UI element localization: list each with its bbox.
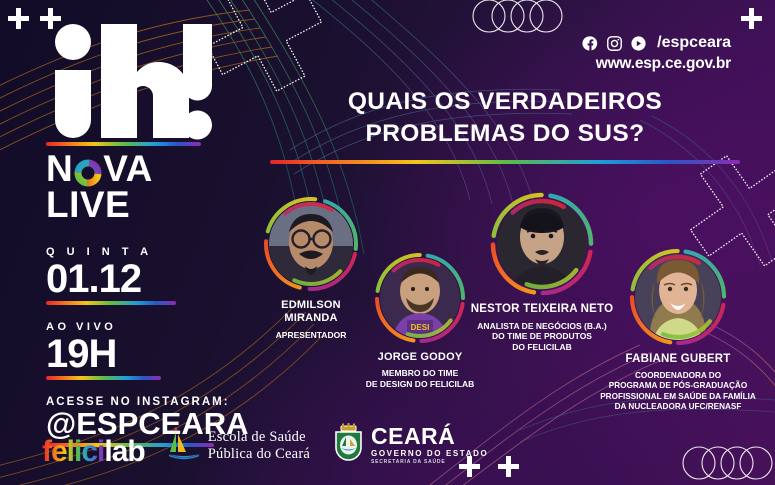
live-kicker: AO VIVO bbox=[46, 321, 238, 333]
promo-poster: N bbox=[0, 0, 775, 485]
speaker-role: MEMBRO DO TIME DE DESIGN DO FELICILAB bbox=[350, 368, 490, 390]
felicilab-colored-text: felici bbox=[42, 435, 104, 468]
facebook-icon[interactable] bbox=[582, 35, 599, 52]
rainbow-divider-date bbox=[46, 301, 176, 305]
ih-logo-i-dot bbox=[55, 24, 91, 60]
esp-line-1: Escola de Saúde bbox=[208, 429, 310, 445]
social-handle[interactable]: /espceara bbox=[657, 34, 731, 52]
footer-logos: felicilab Escola de Saúde Pública do Cea… bbox=[42, 422, 488, 467]
event-date: 01.12 bbox=[46, 259, 238, 299]
headline-line-1: QUAIS OS VERDADEIROS bbox=[270, 86, 740, 118]
esp-logo: Escola de Saúde Pública do Ceará bbox=[167, 424, 310, 467]
speaker-avatar-jorge: DESI bbox=[374, 252, 466, 344]
overlapping-circles-icon-top bbox=[473, 0, 562, 32]
speaker-name-line-1: FABIANE GUBERT bbox=[592, 353, 764, 367]
ih-logo-h bbox=[101, 24, 189, 138]
event-time: 19H bbox=[46, 334, 238, 374]
instagram-icon[interactable] bbox=[606, 35, 623, 52]
youtube-icon[interactable] bbox=[630, 35, 647, 52]
ceara-title: CEARÁ bbox=[371, 425, 488, 448]
headline-line-2: PROBLEMAS DO SUS? bbox=[270, 118, 740, 150]
ceara-coat-of-arms-icon bbox=[332, 422, 365, 467]
ceara-subtitle: GOVERNO DO ESTADO bbox=[371, 450, 488, 458]
event-info: Q U I N T A 01.12 AO VIVO 19H ACESSE NO … bbox=[46, 246, 238, 448]
live-text: LIVE bbox=[46, 187, 238, 223]
ceara-secretary-label: SECRETARIA DA SAÚDE bbox=[371, 460, 488, 465]
speaker-role-line-2: DE DESIGN DO FELICILAB bbox=[350, 379, 490, 390]
esp-line-2: Pública do Ceará bbox=[208, 446, 310, 462]
speaker-avatar-nestor bbox=[490, 192, 594, 296]
speaker-role-line-1: COORDENADORA DO bbox=[592, 371, 764, 382]
social-links: /espceara www.esp.ce.gov.br bbox=[582, 34, 731, 73]
nova-text-n: N bbox=[46, 151, 73, 187]
left-column: N bbox=[38, 22, 238, 447]
speaker-role-line-2: PROGRAMA DE PÓS-GRADUAÇÃO bbox=[592, 381, 764, 392]
speaker-card-fabiane: FABIANE GUBERT COORDENADORA DO PROGRAMA … bbox=[592, 248, 764, 413]
ceara-government-logo: CEARÁ GOVERNO DO ESTADO SECRETARIA DA SA… bbox=[332, 422, 488, 467]
website-url[interactable]: www.esp.ce.gov.br bbox=[582, 55, 731, 73]
speaker-role: COORDENADORA DO PROGRAMA DE PÓS-GRADUAÇÃ… bbox=[592, 371, 764, 413]
rainbow-divider-headline bbox=[270, 160, 740, 164]
felicilab-white-text: lab bbox=[104, 435, 144, 468]
rainbow-divider bbox=[46, 142, 201, 146]
headline: QUAIS OS VERDADEIROS PROBLEMAS DO SUS? bbox=[270, 86, 740, 164]
ih-logo bbox=[46, 22, 212, 142]
overlapping-circles-icon-bottom bbox=[683, 447, 772, 479]
nova-live-wordmark: N bbox=[46, 142, 238, 224]
speaker-role-line-3: PROFISSIONAL EM SAÚDE DA FAMÍLIA bbox=[592, 392, 764, 403]
day-kicker: Q U I N T A bbox=[46, 246, 238, 258]
nova-text-va: VA bbox=[103, 151, 153, 187]
felicilab-logo: felicilab bbox=[42, 437, 145, 467]
plus-icon-top-right bbox=[741, 8, 762, 29]
rainbow-ring-icon bbox=[74, 157, 102, 185]
speaker-role-line-1: MEMBRO DO TIME bbox=[350, 368, 490, 379]
speaker-avatar-fabiane bbox=[629, 248, 727, 346]
ih-logo-bang-bar bbox=[183, 24, 212, 101]
speaker-avatar-edmilson bbox=[263, 196, 359, 292]
ih-logo-i-stem bbox=[55, 70, 91, 138]
speaker-name: FABIANE GUBERT bbox=[592, 353, 764, 367]
speaker-role-line-4: DA NUCLEADORA UFC/RENASF bbox=[592, 402, 764, 413]
ih-logo-bang-dot bbox=[183, 111, 212, 140]
rainbow-divider-time bbox=[46, 376, 161, 380]
sailboat-book-icon bbox=[167, 424, 201, 467]
